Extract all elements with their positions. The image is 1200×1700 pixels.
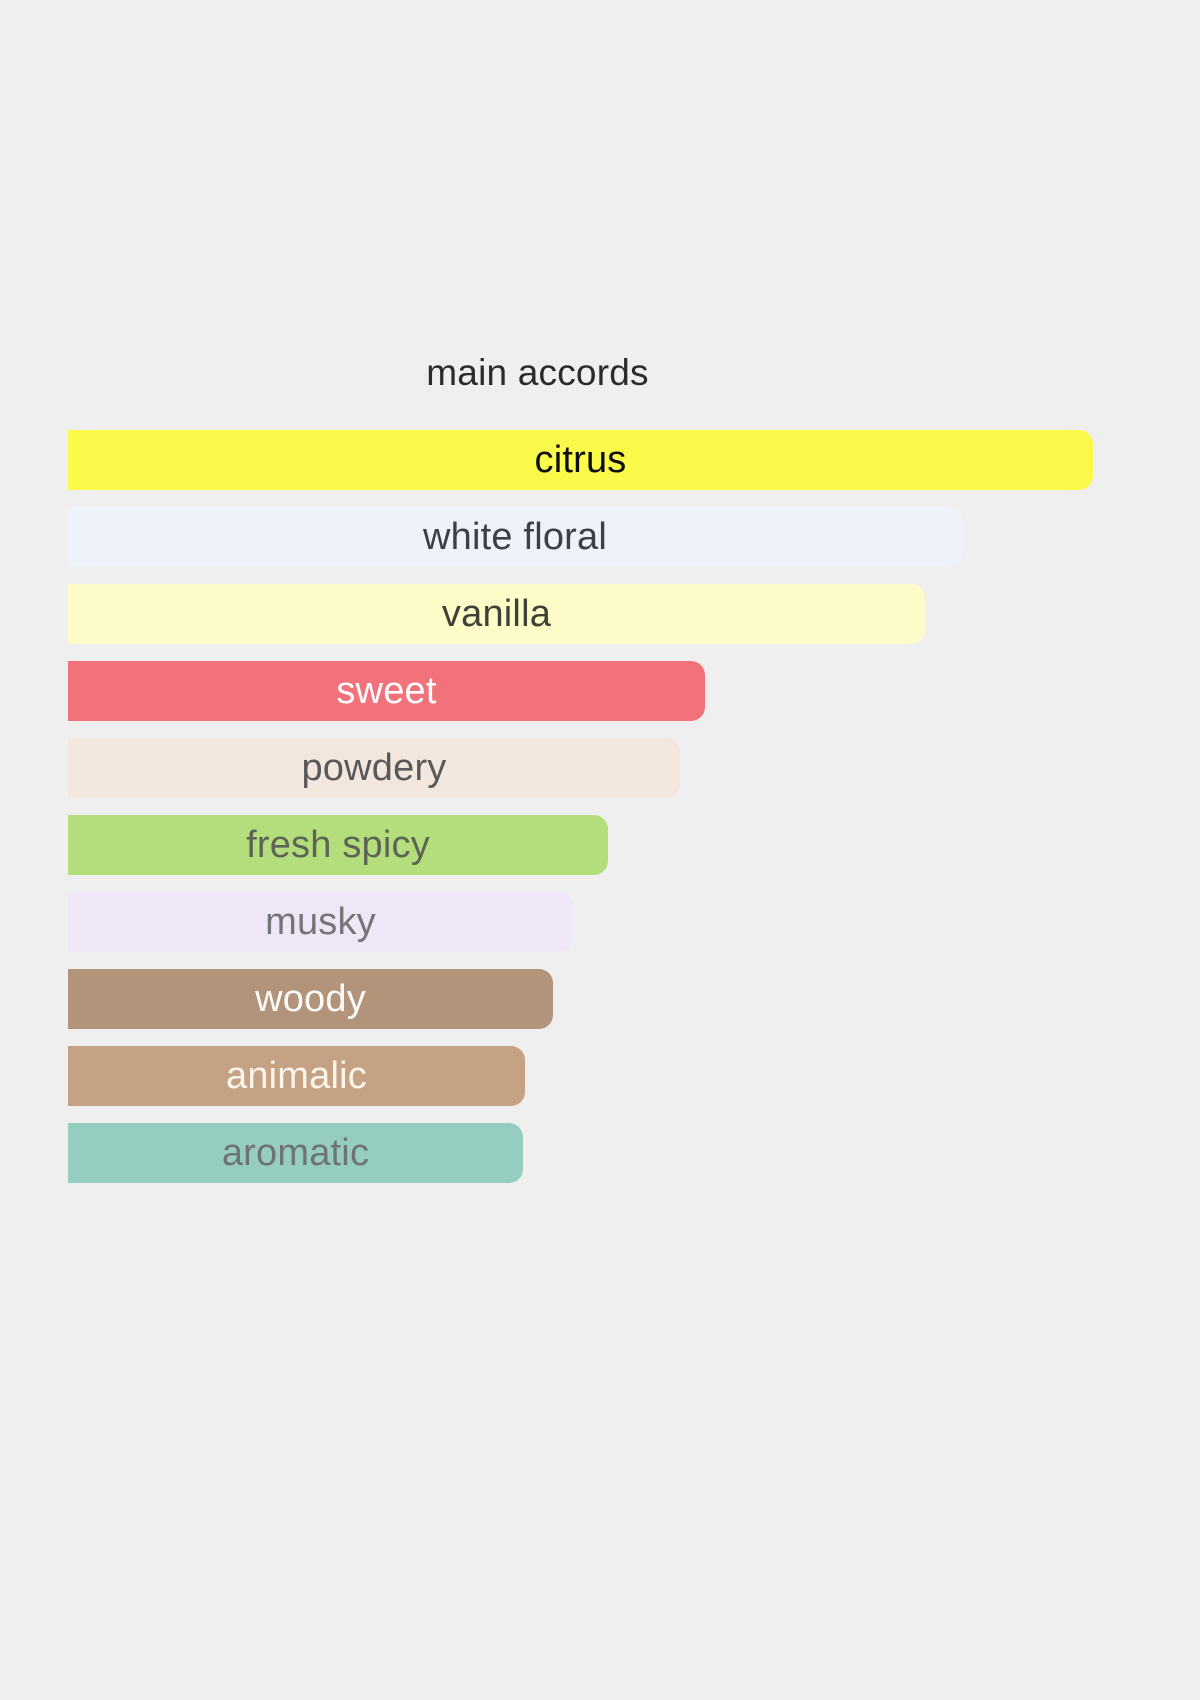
accord-bar-fill[interactable]: animalic <box>68 1046 525 1106</box>
accord-bar-row[interactable]: citrus <box>68 430 1168 490</box>
accord-bar-row[interactable]: musky <box>68 892 1168 952</box>
accord-bar-label: citrus <box>535 440 627 480</box>
accord-bar-label: animalic <box>226 1056 367 1096</box>
accord-bar-fill[interactable]: musky <box>68 892 573 952</box>
accord-bar-row[interactable]: sweet <box>68 661 1168 721</box>
accord-bar-row[interactable]: aromatic <box>68 1123 1168 1183</box>
accord-bar-fill[interactable]: white floral <box>68 507 962 567</box>
accord-bar-label: musky <box>265 902 376 942</box>
accord-bar-row[interactable]: powdery <box>68 738 1168 798</box>
accord-bar-row[interactable]: animalic <box>68 1046 1168 1106</box>
accord-bar-row[interactable]: vanilla <box>68 584 1168 644</box>
accord-bar-label: white floral <box>423 517 607 557</box>
accord-bar-fill[interactable]: fresh spicy <box>68 815 608 875</box>
accord-bar-fill[interactable]: aromatic <box>68 1123 523 1183</box>
accord-bar-label: vanilla <box>442 594 551 634</box>
accord-bar-label: sweet <box>336 671 436 711</box>
accord-bar-fill[interactable]: sweet <box>68 661 705 721</box>
accord-bar-label: fresh spicy <box>246 825 430 865</box>
accord-bar-label: woody <box>255 979 366 1019</box>
accords-bar-list: citruswhite floralvanillasweetpowderyfre… <box>68 430 1168 1200</box>
accord-bar-label: powdery <box>301 748 446 788</box>
accord-bar-fill[interactable]: woody <box>68 969 553 1029</box>
accord-bar-label: aromatic <box>222 1133 369 1173</box>
accord-bar-row[interactable]: fresh spicy <box>68 815 1168 875</box>
main-accords-chart: main accords citruswhite floralvanillasw… <box>0 0 1200 1700</box>
accord-bar-row[interactable]: white floral <box>68 507 1168 567</box>
accord-bar-fill[interactable]: citrus <box>68 430 1093 490</box>
chart-title: main accords <box>0 348 1075 398</box>
accord-bar-fill[interactable]: vanilla <box>68 584 925 644</box>
accord-bar-fill[interactable]: powdery <box>68 738 680 798</box>
accord-bar-row[interactable]: woody <box>68 969 1168 1029</box>
